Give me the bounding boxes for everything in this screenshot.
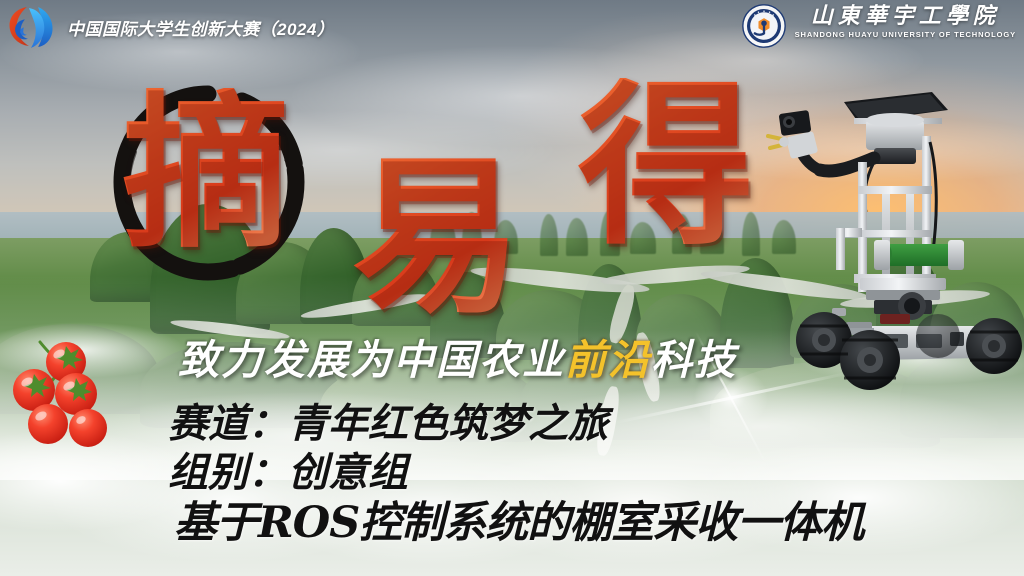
info-track: 赛道：青年红色筑梦之旅	[168, 404, 863, 445]
tagline-highlight: 前沿	[565, 336, 651, 384]
tagline: 致力发展为中国农业前沿科技	[178, 340, 737, 381]
poster-canvas: 中国国际大学生创新大赛（2024） 山東華宇工學院 SHANDONG HUAYU…	[0, 0, 1024, 576]
agricultural-harvesting-robot-icon	[762, 78, 1024, 390]
info-group: 组别：创意组	[168, 453, 863, 494]
contest-branding: 中国国际大学生创新大赛（2024）	[6, 4, 334, 50]
brand-char-zhai: 摘	[122, 88, 290, 256]
project-info-block: 赛道：青年红色筑梦之旅 组别：创意组 基于ROS控制系统的棚室采收一体机	[168, 404, 863, 545]
tagline-part-2: 科技	[651, 336, 737, 384]
university-emblem-icon	[741, 3, 787, 49]
info-project-title: 基于ROS控制系统的棚室采收一体机	[174, 502, 863, 546]
university-branding: 山東華宇工學院 SHANDONG HUAYU UNIVERSITY OF TEC…	[741, 3, 1016, 49]
tagline-part-1: 致力发展为中国农业	[178, 336, 565, 384]
university-name-en: SHANDONG HUAYU UNIVERSITY OF TECHNOLOGY	[795, 30, 1016, 39]
robot-wheel	[966, 318, 1022, 374]
brand-char-yi: 易	[352, 152, 522, 322]
brand-char-de: 得	[578, 78, 754, 254]
university-name-cn: 山東華宇工學院	[811, 4, 1000, 29]
tomato-cluster-icon	[4, 330, 154, 460]
spiral-swirl-logo	[6, 4, 58, 50]
contest-title: 中国国际大学生创新大赛（2024）	[67, 15, 334, 40]
